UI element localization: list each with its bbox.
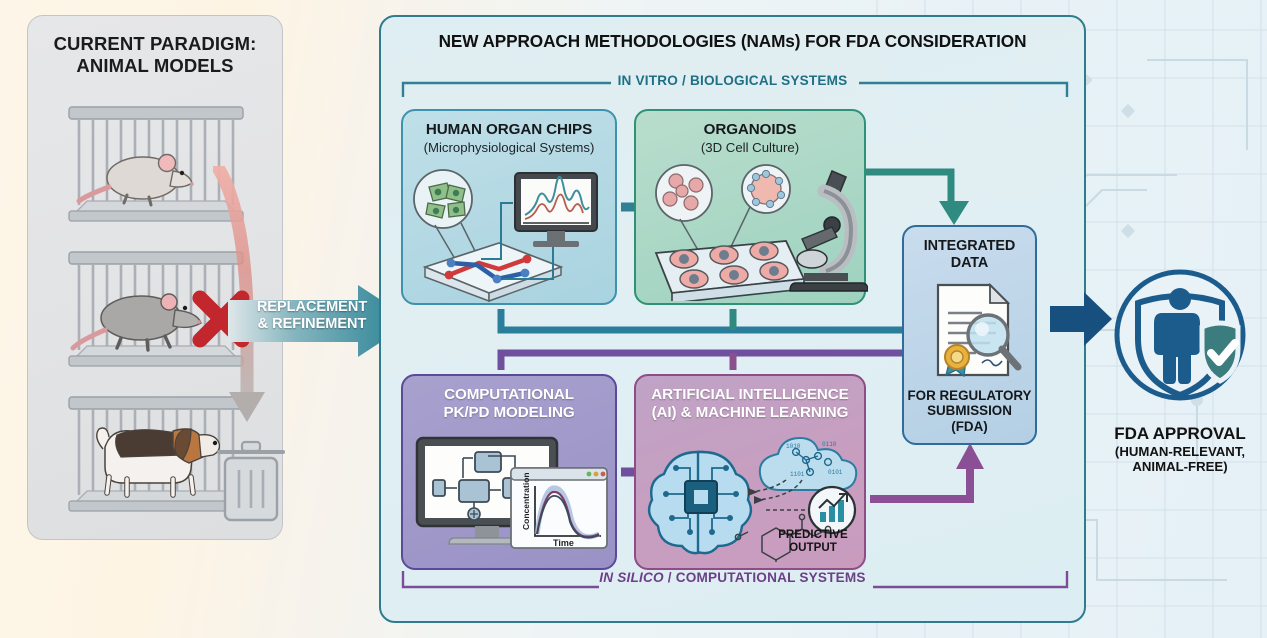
nams-title: NEW APPROACH METHODOLOGIES (NAMs) FOR FD… (381, 31, 1084, 52)
data-cloud-icon: 1010011011010101 (760, 438, 856, 490)
cell-cluster-magnifier-icon (414, 170, 477, 259)
fda-approval-outcome: FDA APPROVAL (HUMAN-RELEVANT, ANIMAL-FRE… (1106, 265, 1254, 475)
organoids-subtitle: (3D Cell Culture) (636, 140, 864, 155)
current-paradigm-title: CURRENT PARADIGM: ANIMAL MODELS (28, 33, 282, 77)
arrow-label-line1: REPLACEMENT (250, 299, 374, 316)
organ-chips-subtitle: (Microphysiological Systems) (403, 140, 615, 155)
integrated-title: INTEGRATED DATA (904, 238, 1035, 271)
integrated-data-box[interactable]: INTEGRATED DATA FOR REGULATORY SUB (902, 225, 1037, 445)
paradigm-title-line1: CURRENT PARADIGM: (28, 33, 282, 55)
integrated-foot-line2: SUBMISSION (904, 403, 1035, 418)
arrow-label-line2: & REFINEMENT (250, 316, 374, 333)
integrated-title-line2: DATA (904, 255, 1035, 272)
integrated-foot-line3: (FDA) (904, 419, 1035, 434)
predictive-line2: OUTPUT (772, 541, 854, 554)
organoids-box[interactable]: ORGANOIDS (3D Cell Culture) (634, 109, 866, 305)
svg-text:Concentration: Concentration (521, 472, 531, 530)
arrow-label: REPLACEMENT & REFINEMENT (250, 299, 374, 333)
pkpd-title-line1: COMPUTATIONAL (403, 386, 615, 404)
trash-can-icon (219, 442, 283, 520)
in-silico-rest: / COMPUTATIONAL SYSTEMS (664, 570, 866, 585)
nams-panel: NEW APPROACH METHODOLOGIES (NAMs) FOR FD… (379, 15, 1086, 623)
ai-title: ARTIFICIAL INTELLIGENCE (AI) & MACHINE L… (636, 386, 864, 421)
fda-approval-sub: (HUMAN-RELEVANT, ANIMAL-FREE) (1106, 444, 1254, 475)
well-plate-icon (656, 241, 804, 301)
predictive-output-label: PREDICTIVE OUTPUT (772, 528, 854, 554)
in-silico-group-label: IN SILICO / COMPUTATIONAL SYSTEMS (381, 570, 1084, 585)
diagram-canvas: CURRENT PARADIGM: ANIMAL MODELS (0, 0, 1267, 638)
spheroid-magnifier-icon (728, 165, 790, 253)
in-vitro-group-label: IN VITRO / BIOLOGICAL SYSTEMS (381, 73, 1084, 88)
current-paradigm-panel: CURRENT PARADIGM: ANIMAL MODELS (27, 15, 283, 540)
microfluidic-chip-icon (425, 243, 561, 301)
pkpd-box[interactable]: COMPUTATIONAL PK/PD MODELING (401, 374, 617, 570)
fda-sub-line1: (HUMAN-RELEVANT, (1106, 444, 1254, 459)
organ-chips-box[interactable]: HUMAN ORGAN CHIPS (Microphysiological Sy… (401, 109, 617, 305)
pkpd-curve-window-icon: Concentration Time (511, 468, 607, 548)
svg-text:1101: 1101 (790, 471, 805, 478)
fda-sub-line2: ANIMAL-FREE) (1106, 459, 1254, 474)
paradigm-title-line2: ANIMAL MODELS (28, 55, 282, 77)
document-magnifier-seal-icon (904, 279, 1039, 384)
in-silico-italic: IN SILICO (599, 570, 664, 585)
ai-ml-box[interactable]: ARTIFICIAL INTELLIGENCE (AI) & MACHINE L… (634, 374, 866, 570)
svg-text:0110: 0110 (822, 441, 837, 448)
predictive-line1: PREDICTIVE (772, 528, 854, 541)
human-shield-check-icon (1106, 265, 1254, 413)
svg-text:Time: Time (553, 538, 574, 548)
svg-text:0101: 0101 (828, 469, 843, 476)
organ-chips-title: HUMAN ORGAN CHIPS (403, 121, 615, 139)
pkpd-title-line2: PK/PD MODELING (403, 404, 615, 422)
organoids-title: ORGANOIDS (636, 121, 864, 139)
pkpd-title: COMPUTATIONAL PK/PD MODELING (403, 386, 615, 421)
ai-title-line1: ARTIFICIAL INTELLIGENCE (636, 386, 864, 404)
monitor-waveform-icon (515, 173, 597, 247)
fda-approval-title: FDA APPROVAL (1106, 424, 1254, 444)
predictive-chart-icon (809, 487, 855, 533)
integrated-foot-line1: FOR REGULATORY (904, 388, 1035, 403)
integrated-footer: FOR REGULATORY SUBMISSION (FDA) (904, 388, 1035, 434)
final-approval-arrow (1050, 292, 1112, 346)
ai-title-line2: (AI) & MACHINE LEARNING (636, 404, 864, 422)
integrated-title-line1: INTEGRATED (904, 238, 1035, 255)
well-plate-magnifier-icon (656, 165, 712, 257)
